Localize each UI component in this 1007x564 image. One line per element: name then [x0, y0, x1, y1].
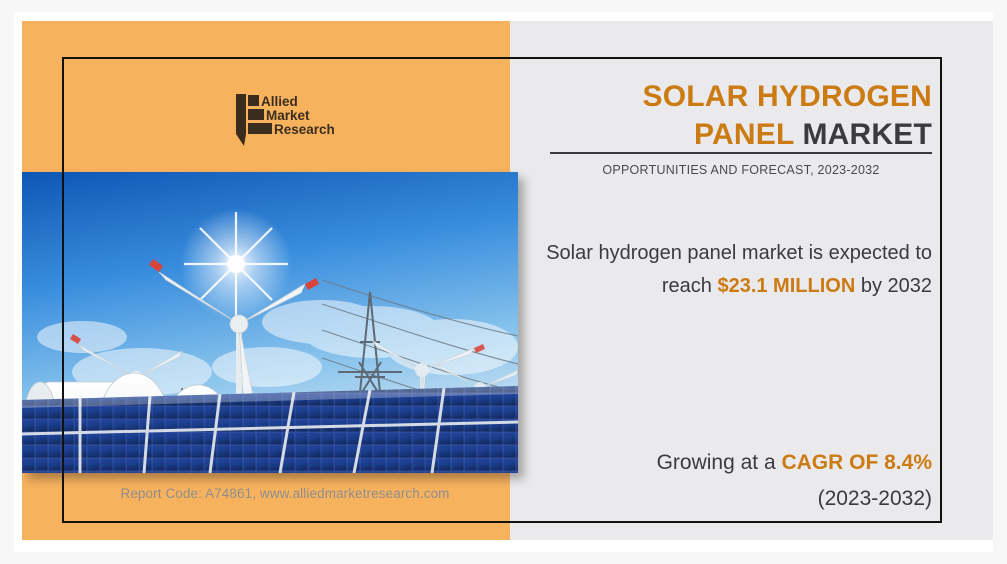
logo-line-3: Research [274, 122, 335, 137]
logo-line-2: Market [266, 108, 310, 123]
market-value-blurb: Solar hydrogen panel market is expected … [520, 237, 932, 303]
title-plain: MARKET [802, 118, 932, 151]
title-line-2: PANEL MARKET [550, 116, 932, 154]
cagr-period: (2023-2032) [520, 481, 932, 517]
blurb-suffix: by 2032 [855, 275, 932, 297]
logo-line-1: Allied [261, 94, 298, 109]
cagr-blurb: Growing at a CAGR OF 8.4% (2023-2032) [520, 445, 932, 517]
subtitle-text: OPPORTUNITIES AND FORECAST, 2023-2032 [550, 163, 932, 177]
title-accent-1: SOLAR HYDROGEN [643, 80, 933, 113]
cagr-value: CAGR OF 8.4% [781, 451, 932, 474]
title-accent-2: PANEL [694, 118, 794, 151]
allied-market-research-logo: Allied Market Research [234, 92, 338, 148]
blurb-value: $23.1 MILLION [717, 275, 855, 297]
title-divider [550, 152, 932, 154]
report-code-text: Report Code: A74861, www.alliedmarketres… [70, 486, 500, 501]
title-line-1: SOLAR HYDROGEN [550, 78, 932, 116]
renewable-energy-photo: H₂ H₂ HYDROGEN H₂ H₂ [22, 172, 518, 473]
page-title: SOLAR HYDROGEN PANEL MARKET [550, 78, 932, 154]
cagr-prefix: Growing at a [657, 451, 782, 474]
infographic-canvas: Allied Market Research [0, 0, 1007, 564]
